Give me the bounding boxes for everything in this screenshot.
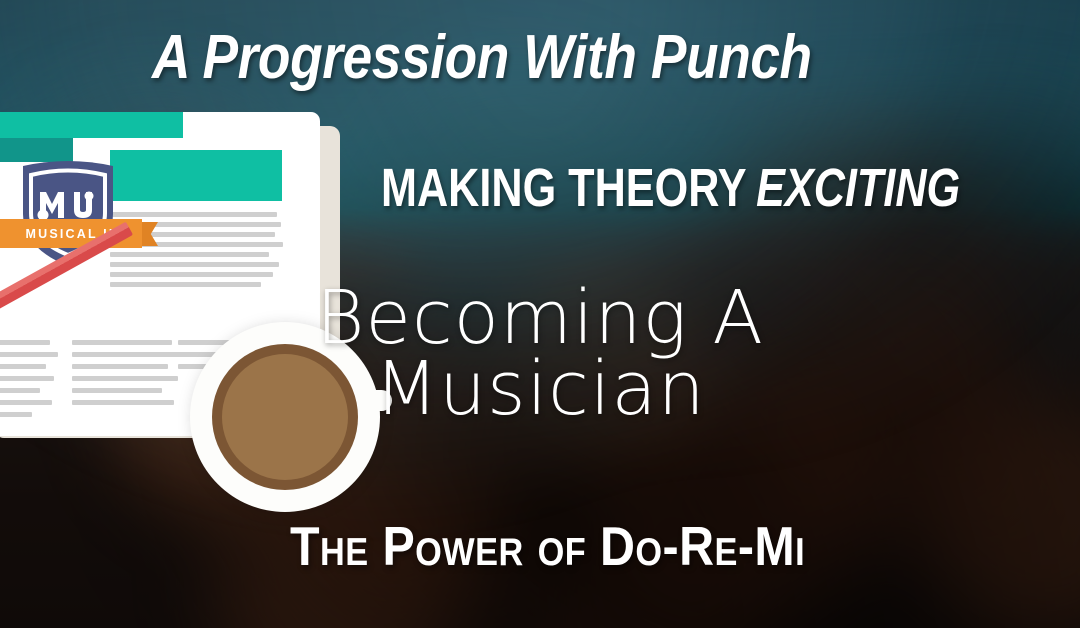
headline-making-theory-exciting: MAKING THEORYEXCITING — [381, 157, 960, 219]
logo-banner: MUSICAL U — [0, 219, 158, 248]
headline-exciting-emphasis: EXCITING — [756, 158, 960, 218]
text-line — [199, 252, 269, 257]
document-band-left — [0, 112, 183, 138]
document-header-block — [110, 150, 282, 201]
text-line — [199, 272, 273, 277]
promo-banner: MUSICAL U A Progression With Punch MAKIN… — [0, 0, 1080, 628]
headline-becoming-a-musician: Becoming A Musician — [0, 283, 1080, 425]
text-line — [199, 262, 279, 267]
headline-musician-line2: Musician — [0, 354, 1080, 425]
text-line — [199, 222, 281, 227]
headline-making-theory-plain: MAKING THEORY — [381, 158, 747, 218]
headline-progression-with-punch: A Progression With Punch — [152, 22, 812, 93]
text-line — [199, 232, 275, 237]
text-line — [199, 212, 277, 217]
text-line — [199, 242, 283, 247]
headline-power-of-do-re-mi: The Power of Do-Re-Mi — [290, 514, 805, 578]
